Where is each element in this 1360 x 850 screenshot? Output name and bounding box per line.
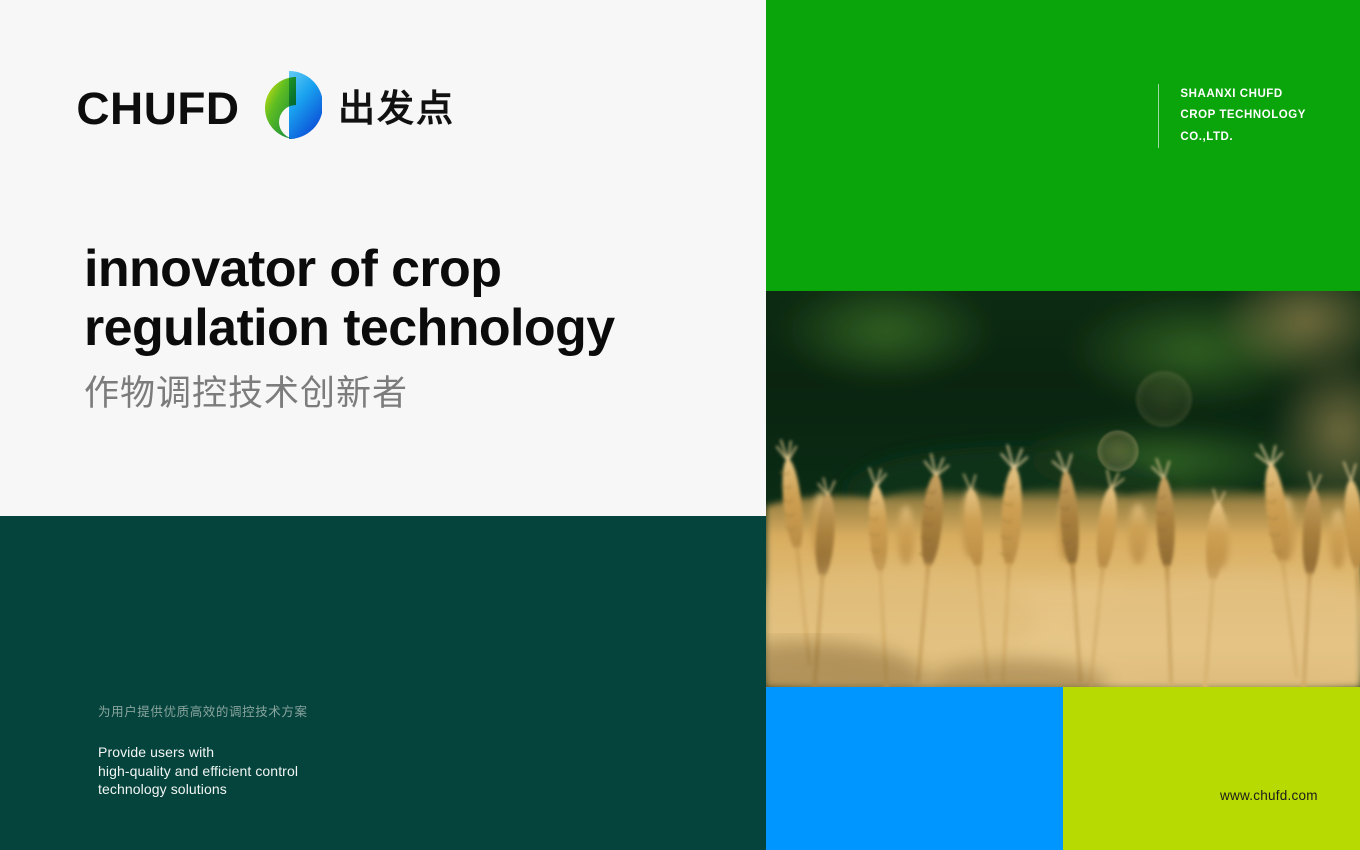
logo-chinese-name: 出发点 <box>338 90 455 127</box>
tagline-block: 为用户提供优质高效的调控技术方案 Provide users with high… <box>98 702 428 799</box>
green-header-block: SHAANXI CHUFD CROP TECHNOLOGY CO.,LTD. <box>766 0 1360 291</box>
company-name-line-2: CROP TECHNOLOGY <box>1180 105 1306 126</box>
headline-line-2: regulation technology <box>84 299 724 358</box>
tagline-en-line-3: technology solutions <box>98 780 428 799</box>
headline-block: innovator of crop regulation technology … <box>84 240 724 415</box>
wheat-field-photo <box>766 291 1360 687</box>
logo-wordmark: CHUFD <box>76 86 239 131</box>
lime-accent-block: www.chufd.com <box>1063 687 1360 850</box>
blue-accent-block <box>766 687 1063 850</box>
tagline-english: Provide users with high-quality and effi… <box>98 743 428 799</box>
brand-logo-lockup[interactable]: CHUFD <box>78 72 455 144</box>
logo-circles-icon <box>256 68 322 148</box>
headline-subtitle-cn: 作物调控技术创新者 <box>84 373 724 415</box>
teal-panel: 为用户提供优质高效的调控技术方案 Provide users with high… <box>0 516 766 850</box>
company-name-line-3: CO.,LTD. <box>1180 127 1306 148</box>
headline-line-1: innovator of crop <box>84 240 724 299</box>
tagline-en-line-1: Provide users with <box>98 743 428 762</box>
page-title: innovator of crop regulation technology <box>84 240 724 359</box>
tagline-en-line-2: high-quality and efficient control <box>98 762 428 781</box>
website-url[interactable]: www.chufd.com <box>1220 788 1318 803</box>
company-name-line-1: SHAANXI CHUFD <box>1180 84 1306 105</box>
company-name-block: SHAANXI CHUFD CROP TECHNOLOGY CO.,LTD. <box>1158 84 1306 148</box>
brand-cover-page: CHUFD <box>0 0 1360 850</box>
tagline-chinese: 为用户提供优质高效的调控技术方案 <box>98 702 428 722</box>
